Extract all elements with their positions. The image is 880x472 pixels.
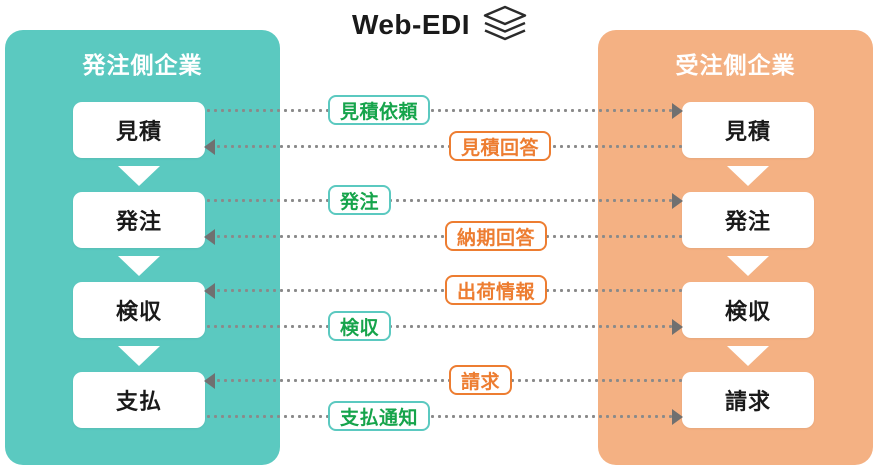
- message-label-shipping-info[interactable]: 出荷情報: [445, 275, 547, 305]
- connector-arrow-order: [672, 193, 683, 209]
- buyer-step-1[interactable]: 見積: [73, 102, 205, 158]
- supplier-flow-arrow-1: [727, 166, 769, 186]
- supplier-step-2[interactable]: 発注: [682, 192, 814, 248]
- supplier-step-1[interactable]: 見積: [682, 102, 814, 158]
- message-label-quote-reply[interactable]: 見積回答: [449, 131, 551, 161]
- connector-arrow-quote-request: [672, 103, 683, 119]
- supplier-step-3[interactable]: 検収: [682, 282, 814, 338]
- buyer-flow-arrow-2: [118, 256, 160, 276]
- supplier-step-4[interactable]: 請求: [682, 372, 814, 428]
- connector-line-quote-request: [205, 109, 682, 112]
- connector-line-order: [205, 199, 682, 202]
- message-label-acceptance[interactable]: 検収: [328, 311, 391, 341]
- connector-arrow-delivery-reply: [204, 229, 215, 245]
- title-text: Web-EDI: [352, 11, 470, 39]
- message-label-delivery-reply[interactable]: 納期回答: [445, 221, 547, 251]
- buyer-step-2[interactable]: 発注: [73, 192, 205, 248]
- buyer-flow-arrow-3: [118, 346, 160, 366]
- message-label-invoice[interactable]: 請求: [449, 365, 512, 395]
- message-label-quote-request[interactable]: 見積依頼: [328, 95, 430, 125]
- layers-stack-icon: [482, 4, 528, 46]
- connector-arrow-payment-notice: [672, 409, 683, 425]
- message-label-order[interactable]: 発注: [328, 185, 391, 215]
- supplier-flow-arrow-3: [727, 346, 769, 366]
- supplier-flow-arrow-2: [727, 256, 769, 276]
- connector-line-acceptance: [205, 325, 682, 328]
- connector-line-payment-notice: [205, 415, 682, 418]
- message-label-payment-notice[interactable]: 支払通知: [328, 401, 430, 431]
- buyer-step-4[interactable]: 支払: [73, 372, 205, 428]
- buyer-step-3[interactable]: 検収: [73, 282, 205, 338]
- connector-arrow-invoice: [204, 373, 215, 389]
- connector-arrow-shipping-info: [204, 283, 215, 299]
- panel-supplier-title: 受注側企業: [598, 46, 873, 80]
- panel-buyer-title: 発注側企業: [5, 46, 280, 80]
- buyer-flow-arrow-1: [118, 166, 160, 186]
- connector-arrow-quote-reply: [204, 139, 215, 155]
- connector-arrow-acceptance: [672, 319, 683, 335]
- diagram-canvas: Web-EDI 発注側企業 受注側企業 見積 発注 検収 支払 見積 発注 検収: [0, 0, 880, 472]
